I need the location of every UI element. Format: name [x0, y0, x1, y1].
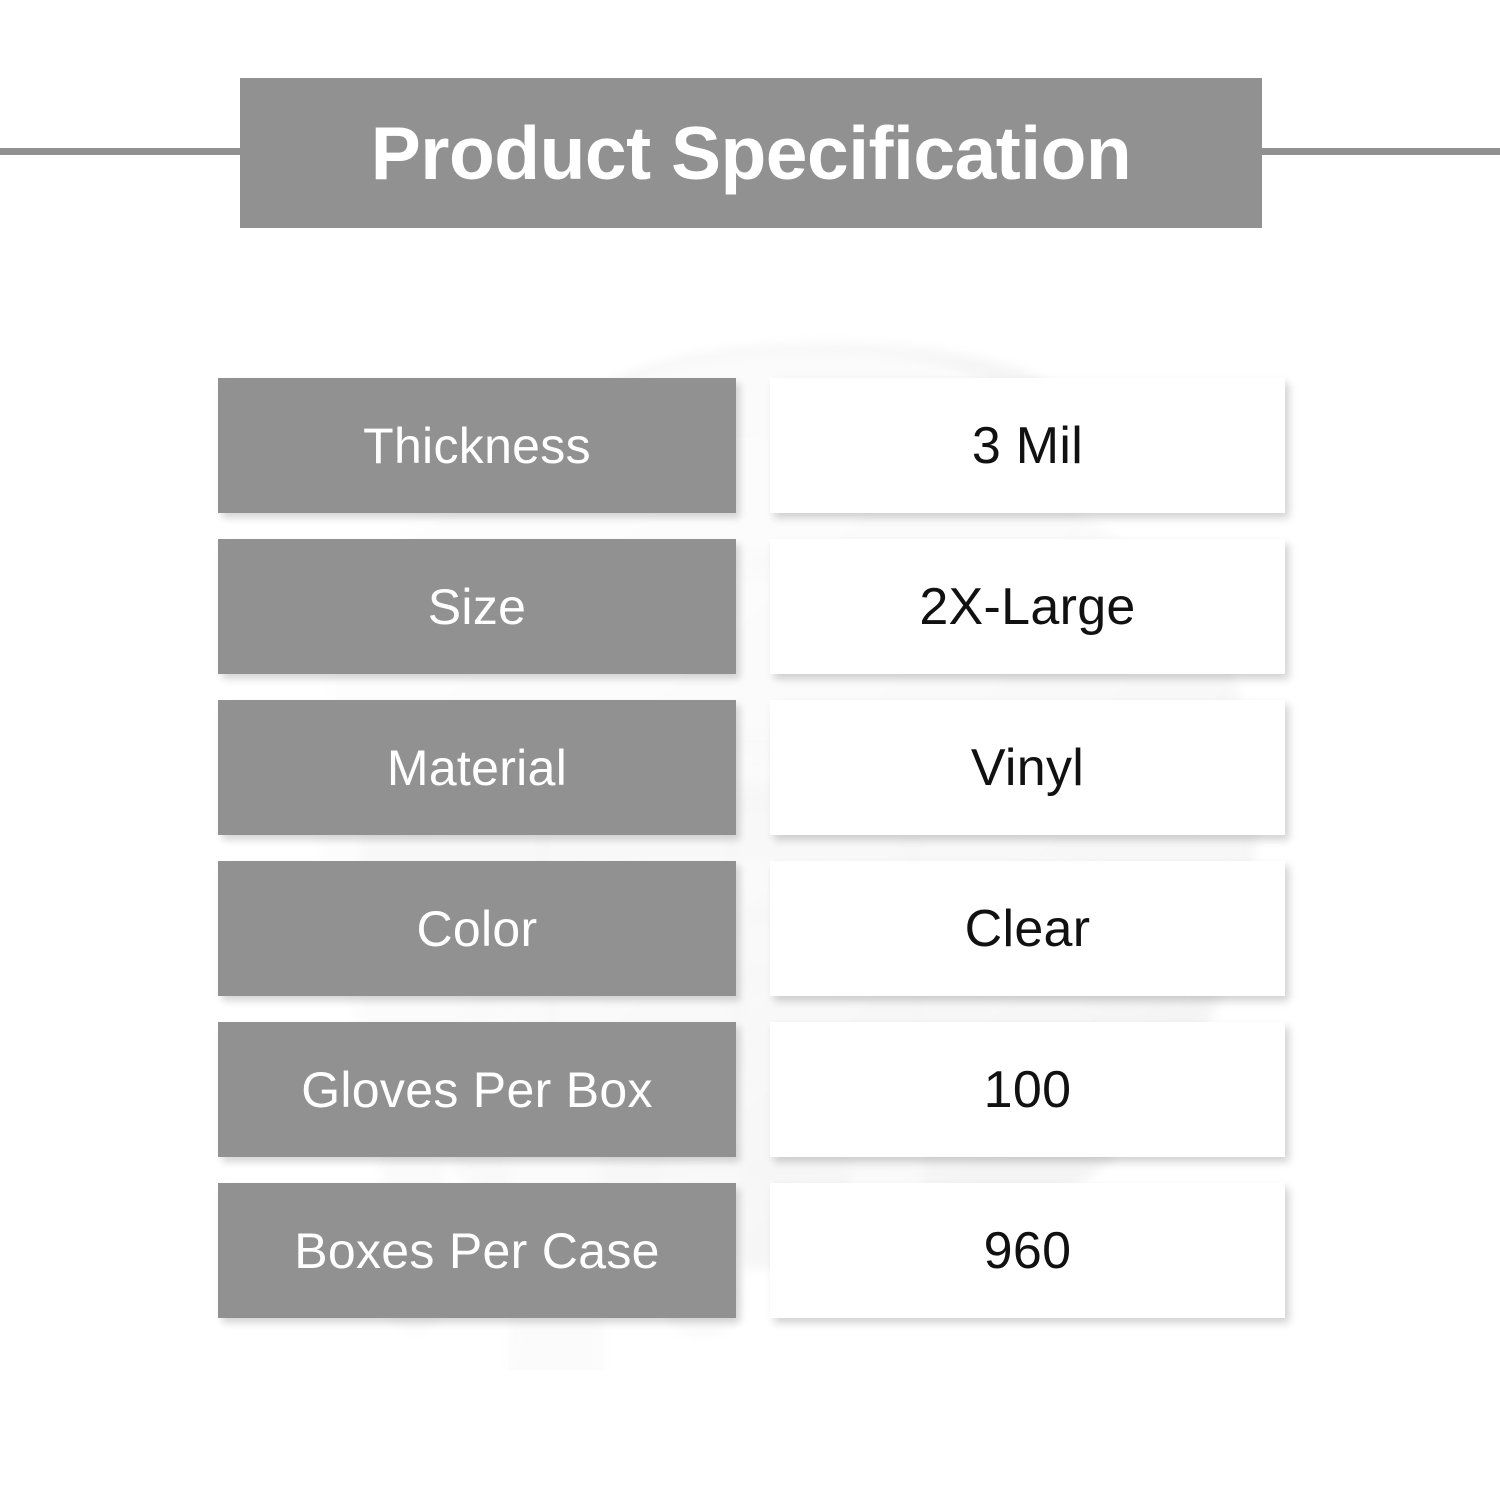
table-row: Boxes Per Case 960: [0, 1183, 1500, 1318]
table-row: Thickness 3 Mil: [0, 378, 1500, 513]
spec-value-size: 2X-Large: [770, 539, 1285, 674]
spec-label-text: Color: [417, 900, 538, 958]
spec-value-text: 3 Mil: [972, 416, 1083, 476]
spec-value-text: Clear: [965, 899, 1091, 959]
spec-value-text: 100: [984, 1060, 1072, 1120]
table-row: Gloves Per Box 100: [0, 1022, 1500, 1157]
table-row: Size 2X-Large: [0, 539, 1500, 674]
spec-label-text: Boxes Per Case: [294, 1222, 659, 1280]
spec-value-text: Vinyl: [971, 738, 1084, 798]
spec-value-color: Clear: [770, 861, 1285, 996]
spec-label-material: Material: [218, 700, 736, 835]
spec-label-text: Thickness: [363, 417, 591, 475]
spec-label-color: Color: [218, 861, 736, 996]
specification-table: Thickness 3 Mil Size 2X-Large Material V…: [0, 378, 1500, 1344]
page-title: Product Specification: [371, 116, 1131, 191]
spec-label-text: Size: [428, 578, 526, 636]
spec-value-gloves-per-box: 100: [770, 1022, 1285, 1157]
spec-label-gloves-per-box: Gloves Per Box: [218, 1022, 736, 1157]
spec-value-material: Vinyl: [770, 700, 1285, 835]
spec-value-thickness: 3 Mil: [770, 378, 1285, 513]
table-row: Material Vinyl: [0, 700, 1500, 835]
spec-value-text: 960: [984, 1221, 1072, 1281]
table-row: Color Clear: [0, 861, 1500, 996]
spec-value-text: 2X-Large: [919, 577, 1135, 637]
spec-label-text: Material: [387, 739, 567, 797]
spec-value-boxes-per-case: 960: [770, 1183, 1285, 1318]
spec-label-text: Gloves Per Box: [301, 1061, 653, 1119]
spec-label-size: Size: [218, 539, 736, 674]
product-specification-page: Product Specification Thickness 3 Mil Si…: [0, 0, 1500, 1500]
spec-label-thickness: Thickness: [218, 378, 736, 513]
spec-label-boxes-per-case: Boxes Per Case: [218, 1183, 736, 1318]
header-banner: Product Specification: [240, 78, 1262, 228]
